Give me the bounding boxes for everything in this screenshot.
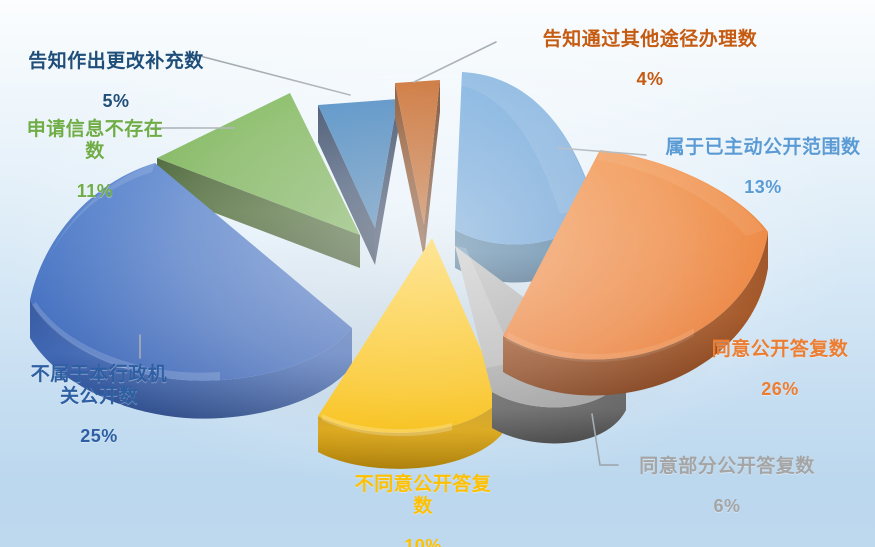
- data-label-percent: 25%: [4, 426, 194, 447]
- data-label-gaozhi-tongguo-qita-tujing: 告知通过其他途径办理数 4%: [524, 10, 776, 109]
- data-label-butongyi-gongkai-dafu: 不同意公开答复 数 10%: [318, 455, 528, 547]
- data-label-tongyi-bufen-gongkai-dafu: 同意部分公开答复数 6%: [598, 437, 856, 536]
- data-label-percent: 4%: [524, 69, 776, 90]
- data-label-percent: 10%: [318, 536, 528, 547]
- data-label-shenqing-xinxi-bucunzai: 申请信息不存在 数 11%: [0, 100, 190, 221]
- data-label-name: 不属于本行政机 关公开数: [4, 364, 194, 408]
- data-label-name: 同意部分公开答复数: [598, 456, 856, 478]
- data-label-percent: 6%: [598, 496, 856, 517]
- data-label-name: 属于已主动公开范围数: [652, 137, 874, 159]
- data-label-percent: 11%: [0, 181, 190, 202]
- data-label-name: 不同意公开答复 数: [318, 474, 528, 518]
- data-label-name: 同意公开答复数: [688, 339, 872, 361]
- data-label-shuyu-yizhudong-gongkai-fanwei: 属于已主动公开范围数 13%: [652, 118, 874, 217]
- data-label-percent: 13%: [652, 177, 874, 198]
- data-label-tongyi-gongkai-dafu: 同意公开答复数 26%: [688, 320, 872, 419]
- data-label-name: 告知通过其他途径办理数: [524, 29, 776, 51]
- data-label-percent: 26%: [688, 379, 872, 400]
- data-label-name: 申请信息不存在 数: [0, 119, 190, 163]
- data-label-name: 告知作出更改补充数: [2, 51, 230, 73]
- pie-chart-figure: 告知作出更改补充数 5% 申请信息不存在 数 11% 不属于本行政机 关公开数 …: [0, 0, 875, 547]
- data-label-buzhuyu-benxingzhengjiguan: 不属于本行政机 关公开数 25%: [4, 345, 194, 466]
